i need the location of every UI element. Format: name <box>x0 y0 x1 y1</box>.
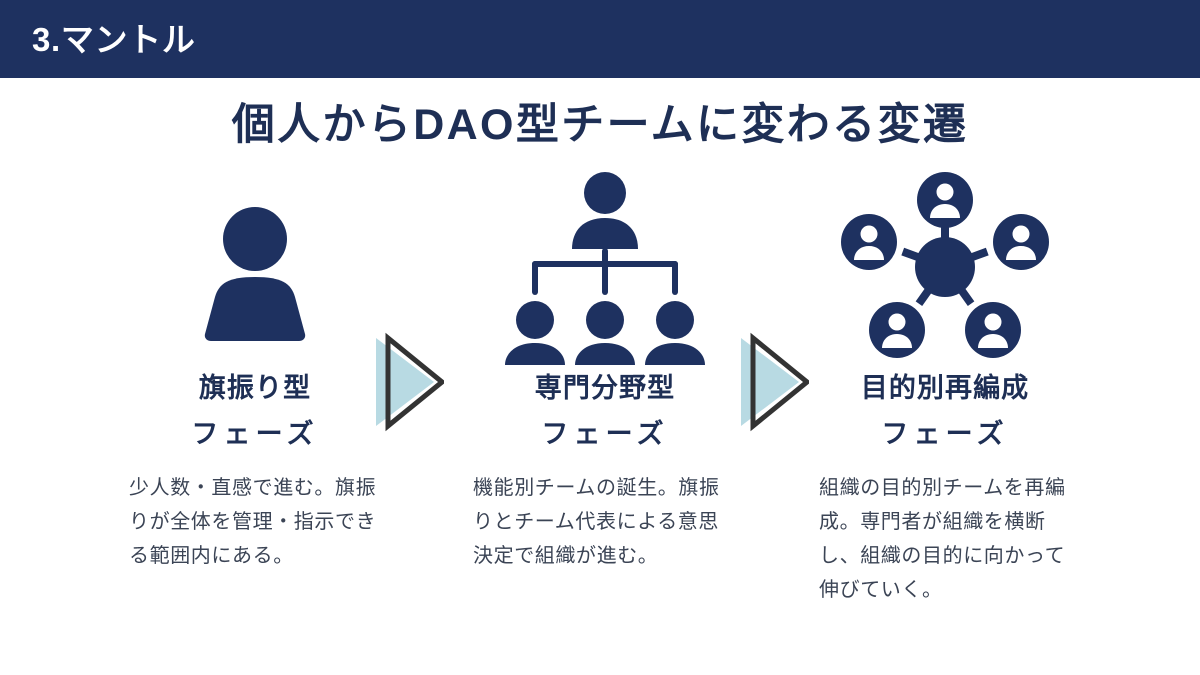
triangle-right-icon <box>737 332 809 432</box>
phase-column-2: 専門分野型 フェーズ 機能別チームの誕生。旗振りとチーム代表による意思決定で組織… <box>455 170 755 573</box>
page-title: 個人からDAO型チームに変わる変遷 <box>0 97 1200 153</box>
phase-3-body: 組織の目的別チームを再編成。専門者が組織を横断し、組織の目的に向かって伸びていく… <box>819 471 1081 607</box>
phase-3-icon-box <box>795 170 1095 365</box>
phase-column-3: 目的別再編成 フェーズ 組織の目的別チームを再編成。専門者が組織を横断し、組織の… <box>795 170 1095 607</box>
triangle-right-icon <box>372 332 444 432</box>
phase-3-title: 目的別再編成 フェーズ <box>795 365 1095 457</box>
phase-1-icon-box <box>105 170 405 365</box>
org-chart-hierarchy-icon <box>495 170 715 365</box>
single-person-icon <box>195 193 315 343</box>
phase-3-title-line1: 目的別再編成 <box>861 373 1029 403</box>
phase-1-title-line2: フェーズ <box>105 411 405 457</box>
arrow-phase2-to-phase3 <box>737 332 809 432</box>
phase-1-body: 少人数・直感で進む。旗振りが全体を管理・指示できる範囲内にある。 <box>129 471 391 573</box>
phase-columns: 旗振り型 フェーズ 少人数・直感で進む。旗振りが全体を管理・指示できる範囲内にあ… <box>0 170 1200 670</box>
phase-2-icon-box <box>455 170 755 365</box>
network-hub-people-icon <box>840 170 1050 365</box>
phase-1-title-line1: 旗振り型 <box>199 373 311 403</box>
phase-2-body: 機能別チームの誕生。旗振りとチーム代表による意思決定で組織が進む。 <box>473 471 735 573</box>
arrow-phase1-to-phase2 <box>372 332 444 432</box>
phase-2-title-line1: 専門分野型 <box>535 373 675 403</box>
section-header-title: 3.マントル <box>32 18 195 62</box>
phase-1-title: 旗振り型 フェーズ <box>105 365 405 457</box>
phase-column-1: 旗振り型 フェーズ 少人数・直感で進む。旗振りが全体を管理・指示できる範囲内にあ… <box>105 170 405 573</box>
phase-2-title: 専門分野型 フェーズ <box>455 365 755 457</box>
phase-3-title-line2: フェーズ <box>795 411 1095 457</box>
phase-2-title-line2: フェーズ <box>455 411 755 457</box>
